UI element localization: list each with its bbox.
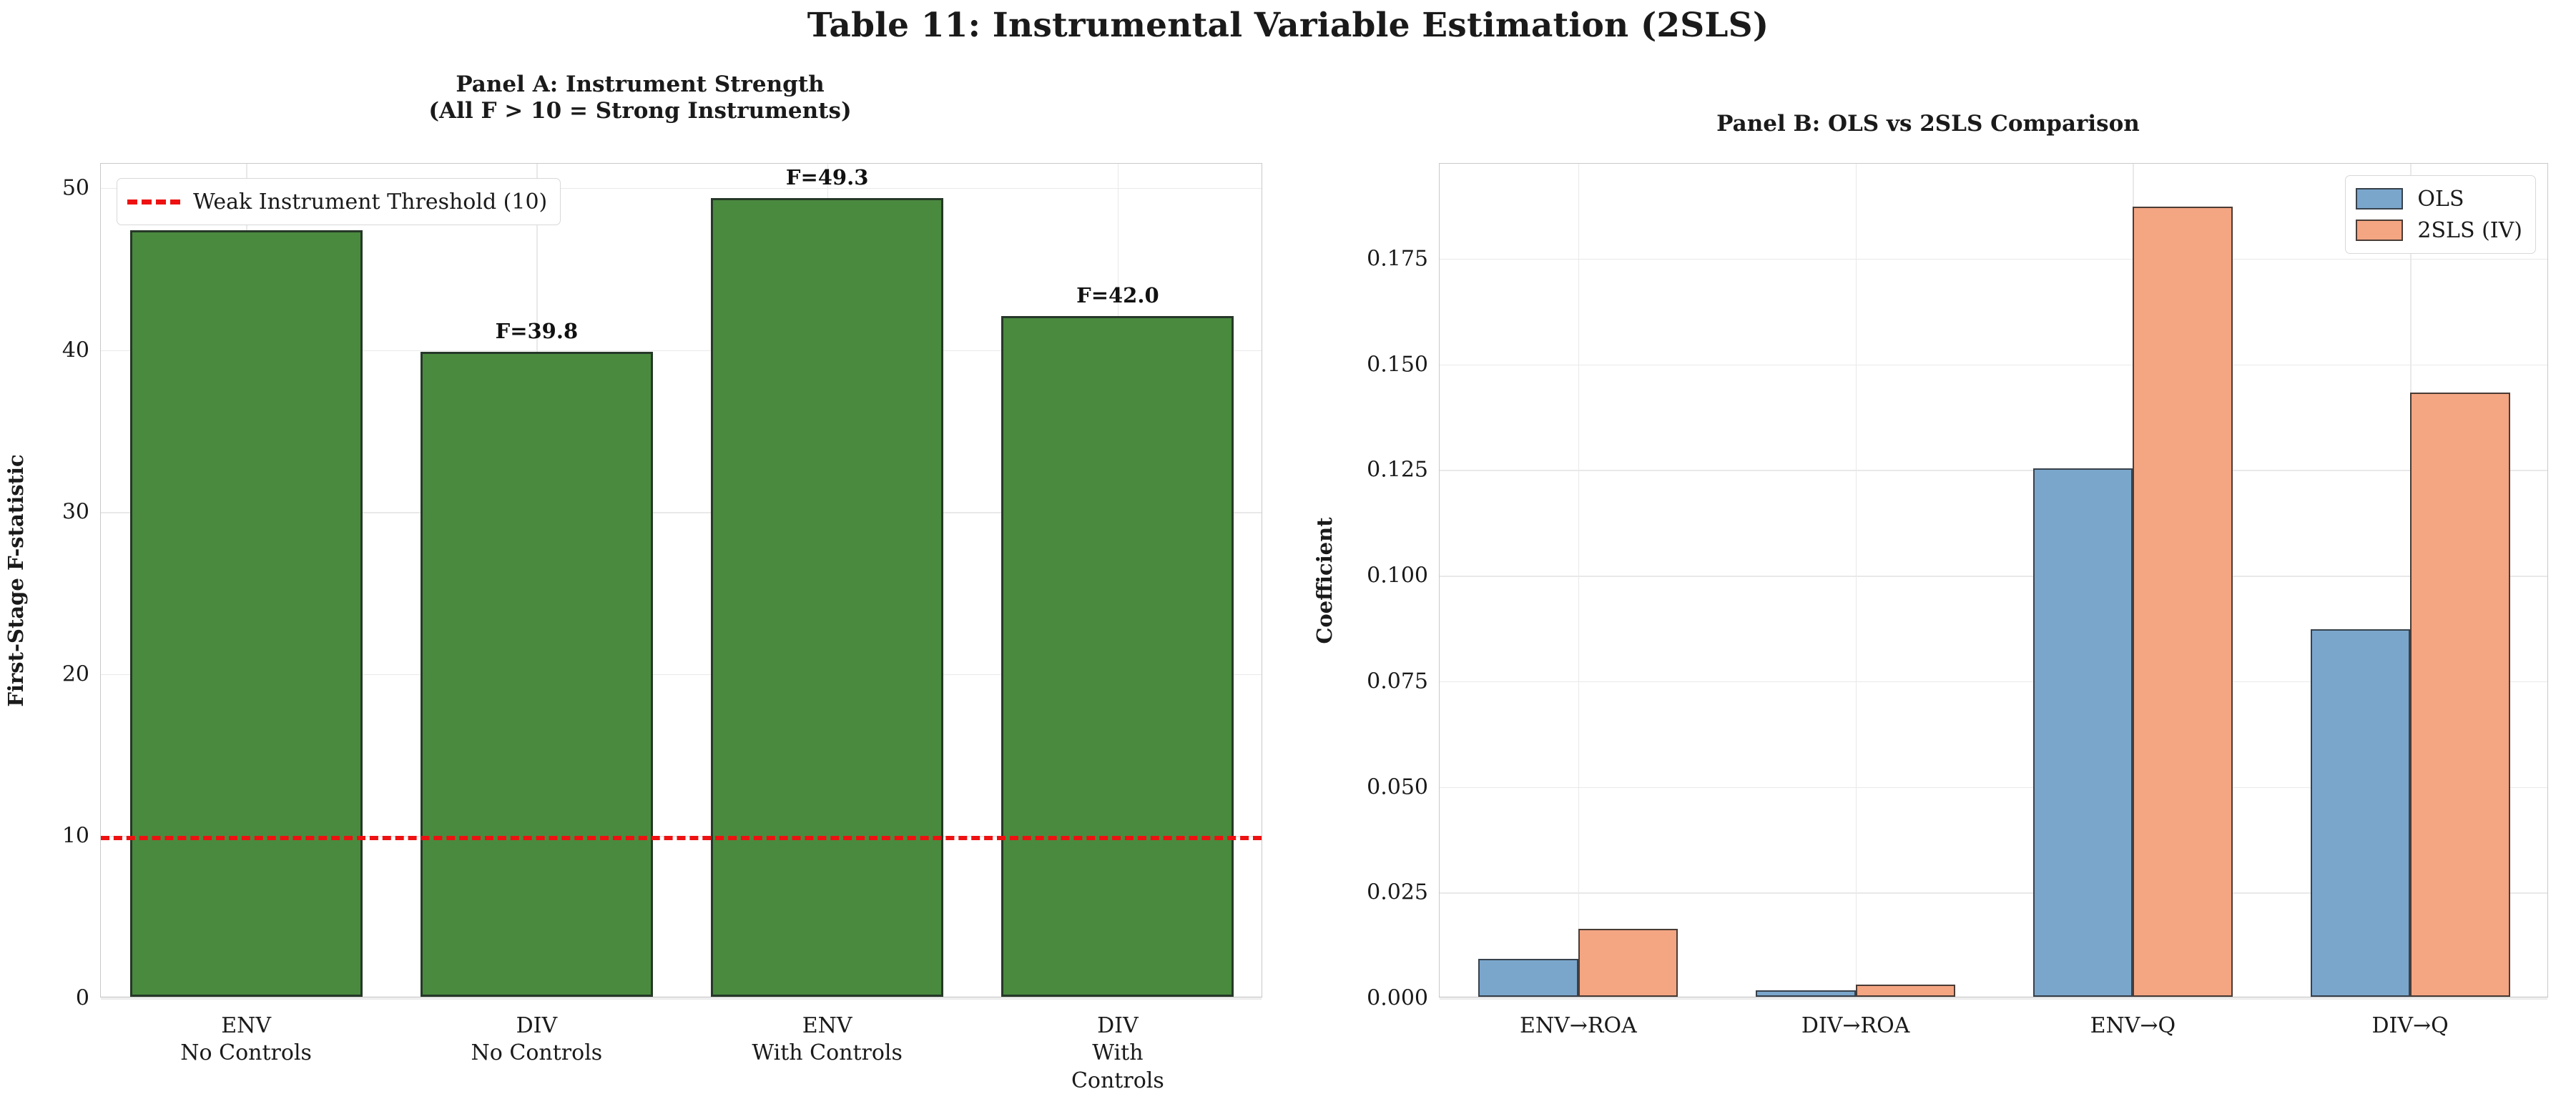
panel-b-plot-area: 0.0000.0250.0500.0750.1000.1250.1500.175…: [1439, 163, 2548, 997]
weak-instrument-threshold-line: [101, 836, 1262, 840]
panel-a-y-tick-label: 0: [76, 986, 89, 1011]
gridline-horizontal: [1440, 576, 2547, 577]
panel-a-bar: [711, 198, 943, 997]
panel-a-y-axis-label: First-Stage F-statistic: [4, 454, 28, 706]
dashed-line-swatch-icon: [127, 199, 180, 204]
panel-b-y-tick-label: 0.175: [1367, 246, 1428, 271]
panel-b: Panel B: OLS vs 2SLS Comparison Coeffici…: [1280, 0, 2576, 1094]
panel-a-legend-row: Weak Instrument Threshold (10): [127, 186, 547, 217]
panel-b-y-tick-label: 0.000: [1367, 986, 1428, 1011]
panel-b-legend-row[interactable]: 2SLS (IV): [2356, 215, 2522, 246]
panel-a-y-tick-label: 50: [62, 175, 89, 200]
panel-a-bar: [421, 352, 653, 997]
panel-b-x-tick-label: DIV→Q: [2371, 1012, 2448, 1040]
panel-b-bar-ols: [1756, 990, 1856, 997]
panel-b-bar-iv: [1856, 985, 1956, 997]
gridline-vertical: [1578, 164, 1580, 997]
panel-b-y-tick-label: 0.100: [1367, 563, 1428, 588]
panel-a-title-line1: Panel A: Instrument Strength: [0, 72, 1280, 98]
panel-a-y-tick-label: 40: [62, 337, 89, 363]
panel-b-bar-iv: [1578, 929, 1678, 997]
panel-b-y-tick-label: 0.125: [1367, 458, 1428, 483]
iv-color-swatch-icon: [2356, 220, 2403, 241]
panel-a-x-tick-label: ENV No Controls: [180, 1012, 312, 1068]
panel-a-y-tick-label: 10: [62, 824, 89, 849]
panel-b-legend[interactable]: OLS2SLS (IV): [2345, 175, 2536, 254]
panel-a-x-tick-label: DIV No Controls: [471, 1012, 603, 1068]
figure-root: Table 11: Instrumental Variable Estimati…: [0, 0, 2576, 1094]
panel-b-y-tick-label: 0.050: [1367, 774, 1428, 799]
panel-a-x-tick-label: ENV With Controls: [752, 1012, 903, 1068]
panel-a-bar: [130, 230, 363, 997]
panel-b-title: Panel B: OLS vs 2SLS Comparison: [1280, 111, 2576, 137]
panel-a-bar-value-label: F=42.0: [1076, 283, 1159, 307]
panel-b-x-tick-label: ENV→Q: [2090, 1012, 2176, 1040]
panel-b-x-tick-label: DIV→ROA: [1801, 1012, 1910, 1040]
panel-a-legend[interactable]: Weak Instrument Threshold (10): [117, 178, 561, 225]
panel-b-legend-label: OLS: [2417, 187, 2464, 212]
panel-a-title: Panel A: Instrument Strength (All F > 10…: [0, 72, 1280, 124]
gridline-horizontal: [101, 998, 1262, 1000]
panel-b-legend-label: 2SLS (IV): [2417, 218, 2522, 243]
ols-color-swatch-icon: [2356, 188, 2403, 210]
panel-b-bar-ols: [2311, 629, 2411, 997]
panel-b-y-tick-label: 0.150: [1367, 352, 1428, 377]
gridline-vertical: [1856, 164, 1857, 997]
panel-a: Panel A: Instrument Strength (All F > 10…: [0, 0, 1280, 1094]
gridline-horizontal: [1440, 259, 2547, 260]
panel-b-x-tick-label: ENV→ROA: [1520, 1012, 1637, 1040]
panel-a-y-tick-label: 20: [62, 661, 89, 686]
panel-b-bar-ols: [1478, 959, 1578, 997]
panel-b-bar-ols: [2033, 468, 2133, 997]
panel-b-y-axis-label: Coefficient: [1312, 517, 1337, 644]
panel-a-legend-label: Weak Instrument Threshold (10): [193, 189, 547, 215]
panel-b-legend-row[interactable]: OLS: [2356, 183, 2522, 215]
panel-a-bar-value-label: F=39.8: [496, 319, 579, 343]
panel-a-plot-area: 01020304050ENV No ControlsF=47.3DIV No C…: [100, 163, 1262, 997]
panel-b-y-tick-label: 0.025: [1367, 880, 1428, 905]
panel-b-bar-iv: [2133, 207, 2233, 997]
panel-a-y-tick-label: 30: [62, 500, 89, 525]
panel-b-y-tick-label: 0.075: [1367, 669, 1428, 694]
panel-b-bar-iv: [2410, 393, 2510, 997]
gridline-horizontal: [1440, 998, 2547, 1000]
panel-a-x-tick-label: DIV With Controls: [1046, 1012, 1189, 1094]
panel-a-title-line2: (All F > 10 = Strong Instruments): [0, 98, 1280, 124]
panel-a-bar: [1001, 316, 1234, 997]
gridline-horizontal: [1440, 470, 2547, 471]
gridline-horizontal: [1440, 365, 2547, 366]
panel-a-bar-value-label: F=49.3: [786, 165, 869, 189]
